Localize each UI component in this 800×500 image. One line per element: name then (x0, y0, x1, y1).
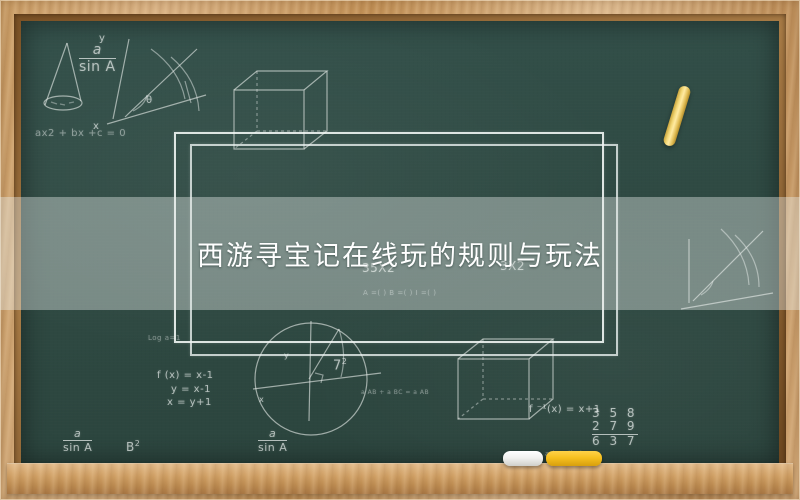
chalk-small-formula: a AB + a BC = a AB (361, 389, 429, 396)
chalk-ledge (7, 463, 793, 494)
chalkboard-title-card: a sin A ax2 + bx +c = 0 y x θ f (x) = x-… (0, 0, 800, 500)
chalk-fn-line1: f (x) = x-1 (157, 369, 214, 383)
chalk-b-squared: B2 (126, 439, 140, 454)
chalk-column-addition: 3 5 8 2 7 9 6 3 7 (592, 407, 638, 448)
cone-figure (44, 43, 82, 110)
chalk-seven-squared: 72 (333, 357, 347, 373)
page-title: 西游寻宝记在线玩的规则与玩法 (197, 234, 603, 273)
chalk-fn-line2: y = x-1 (157, 383, 214, 397)
chalk-quadratic-equation: ax2 + bx +c = 0 (35, 128, 126, 139)
chalk-sum-row2: 2 7 9 (592, 420, 638, 433)
chalk-fraction-a-sinA-topleft: a sin A (79, 43, 116, 74)
yellow-chalk-piece[interactable] (546, 451, 602, 466)
chalk-angle-theta-left: θ (146, 95, 153, 106)
angle-construction-figure (107, 39, 206, 124)
chalk-sum-row1: 3 5 8 (592, 407, 638, 420)
title-band: 西游寻宝记在线玩的规则与玩法 (0, 197, 800, 310)
chalk-inverse-function: f ⁻¹(x) = x+1 (529, 404, 601, 415)
chalk-fn-line3: x = y+1 (157, 396, 214, 410)
chalk-axis-label-x: x (93, 121, 99, 132)
chalk-axis-label-y: y (99, 33, 105, 44)
chalk-fraction-a-sinA-bottomleft: a sin A (63, 428, 92, 453)
white-chalk-piece[interactable] (503, 451, 543, 466)
chalk-function-lines: f (x) = x-1 y = x-1 x = y+1 (157, 369, 214, 410)
chalk-fraction-a-sinA-bottomcenter: a sin A (258, 428, 287, 453)
chalk-axis-label-x-right: x (259, 395, 264, 404)
chalk-sum-total: 6 3 7 (592, 434, 638, 448)
